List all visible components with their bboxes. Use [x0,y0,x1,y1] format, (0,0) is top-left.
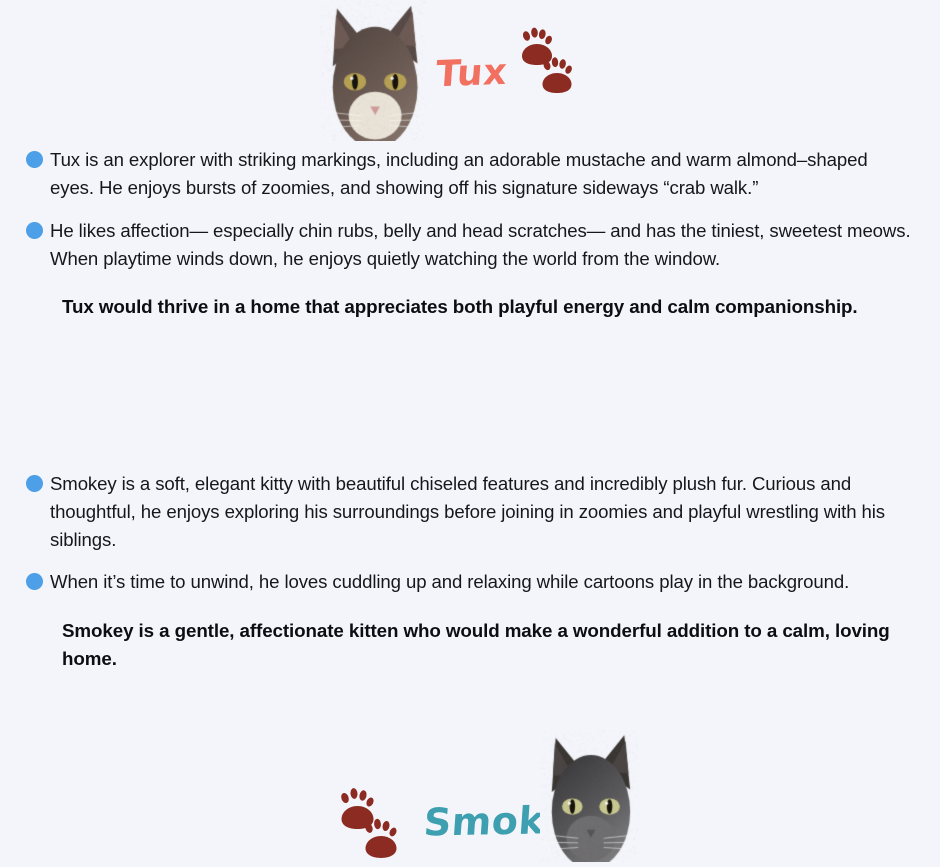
bullet-dot-icon [26,573,43,590]
paw-print-icon-pair-smokey [336,782,410,867]
list-item: He likes affection— especially chin rubs… [26,217,914,274]
tux-name-label: Tux [435,55,509,93]
smokey-content: Smokey is a soft, elegant kitty with bea… [0,470,940,674]
bullet-dot-icon [26,222,43,239]
smokey-header: Smokey [0,330,940,470]
bullet-text: He likes affection— especially chin rubs… [50,217,914,274]
paw-print-icon-pair-tux [516,26,574,101]
tux-header: Tux [0,0,940,146]
smokey-summary: Smokey is a gentle, affectionate kitten … [62,617,914,674]
smokey-cat-photo [540,730,638,862]
list-item: Tux is an explorer with striking marking… [26,146,914,203]
bullet-text: Smokey is a soft, elegant kitty with bea… [50,470,914,555]
tux-cat-photo [320,0,426,141]
bullet-dot-icon [26,475,43,492]
list-item: When it’s time to unwind, he loves cuddl… [26,568,914,596]
bullet-dot-icon [26,151,43,168]
tux-summary: Tux would thrive in a home that apprecia… [62,293,914,322]
list-item: Smokey is a soft, elegant kitty with bea… [26,470,914,555]
bullet-text: When it’s time to unwind, he loves cuddl… [50,568,849,596]
tux-content: Tux is an explorer with striking marking… [0,146,940,330]
adoption-flyer-page: Tux [0,0,940,788]
bullet-text: Tux is an explorer with striking marking… [50,146,914,203]
